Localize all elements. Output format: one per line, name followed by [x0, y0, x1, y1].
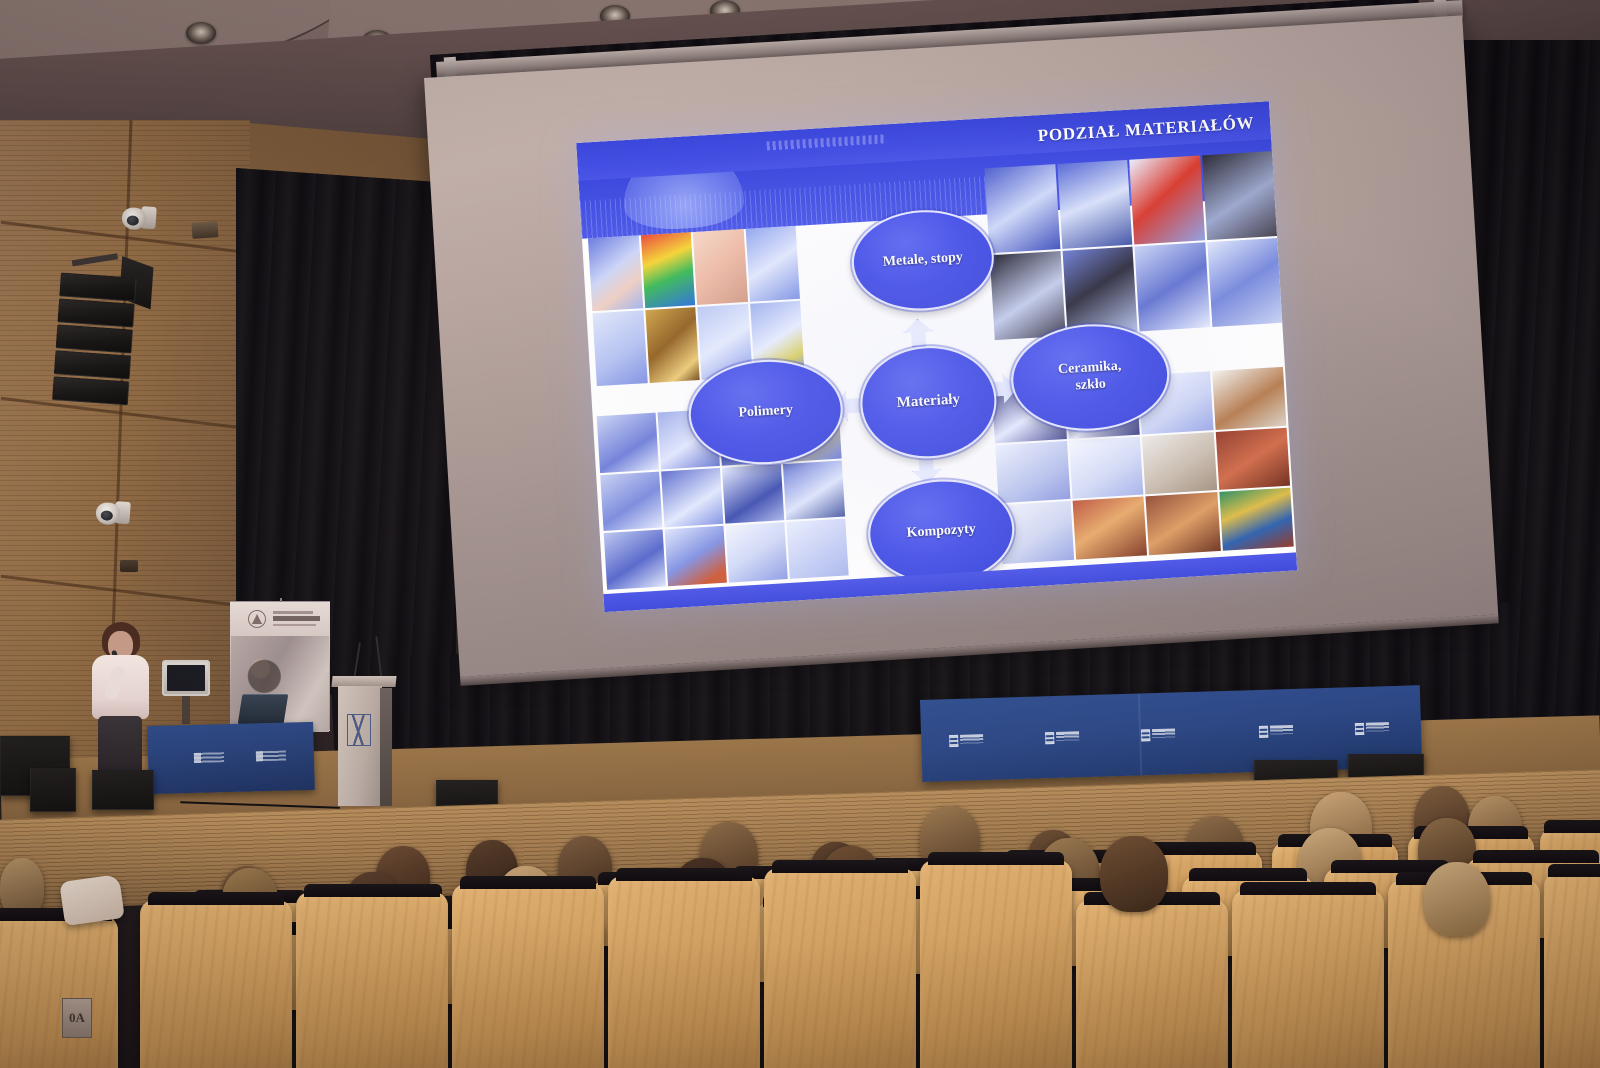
- audience-bag: [59, 874, 125, 926]
- audience-seat: [1076, 900, 1228, 1068]
- audience-seat: [764, 868, 916, 1068]
- banner-logo-icon: [248, 610, 266, 628]
- desk-logo: [256, 751, 286, 762]
- audience-head: [1100, 836, 1168, 912]
- line-array-speaker: [51, 272, 138, 415]
- audience-seat: [452, 884, 604, 1068]
- desk-logo: [194, 752, 224, 763]
- seat-row-placard: 0A: [62, 998, 92, 1038]
- audience-seat: [920, 860, 1072, 1068]
- ceiling-downlight: [186, 22, 216, 44]
- slide-watermark-logo: [766, 134, 886, 150]
- ptz-camera-upper-icon: [121, 204, 157, 232]
- table-logo: [1045, 731, 1079, 744]
- audience-seat: [1232, 890, 1384, 1068]
- stage-speaker: [30, 768, 76, 812]
- slide-body: Metale, stopy Polimery Materiały Ceramik…: [582, 197, 1296, 594]
- stage-monitor-display: [162, 660, 210, 696]
- audience-seat: [608, 876, 760, 1068]
- node-materialy: Materiały: [857, 342, 999, 462]
- presenter-desk: [147, 722, 315, 794]
- audience-seat: [0, 916, 118, 1068]
- laptop: [238, 694, 289, 724]
- ceiling-vent: [191, 221, 218, 239]
- table-logo: [1259, 725, 1293, 738]
- monitor-stand: [182, 696, 190, 724]
- projection-screen: PODZIAŁ MATERIAŁÓW: [424, 15, 1498, 676]
- presenter: [88, 622, 152, 772]
- auditorium-scene: PODZIAŁ MATERIAŁÓW: [0, 0, 1600, 1068]
- stage-speaker: [92, 770, 154, 810]
- node-metale-stopy: Metale, stopy: [849, 206, 997, 314]
- collage-metals: [984, 151, 1282, 340]
- arrow-up-metals-icon: [902, 318, 934, 348]
- audience-head: [1424, 862, 1490, 936]
- projected-slide: PODZIAŁ MATERIAŁÓW: [576, 101, 1297, 612]
- table-logo: [1355, 722, 1389, 735]
- presenter-trousers: [98, 716, 142, 776]
- head-table: [920, 685, 1422, 782]
- table-logo: [1141, 728, 1175, 741]
- table-logo: [949, 734, 983, 747]
- audience-seat: [1544, 872, 1600, 1068]
- ptz-camera-lower-icon: [95, 499, 131, 527]
- lectern: [338, 676, 390, 806]
- audience-seat: [296, 892, 448, 1068]
- audience-seat: [140, 900, 292, 1068]
- wall-vent: [120, 560, 138, 572]
- university-emblem-icon: [347, 714, 371, 746]
